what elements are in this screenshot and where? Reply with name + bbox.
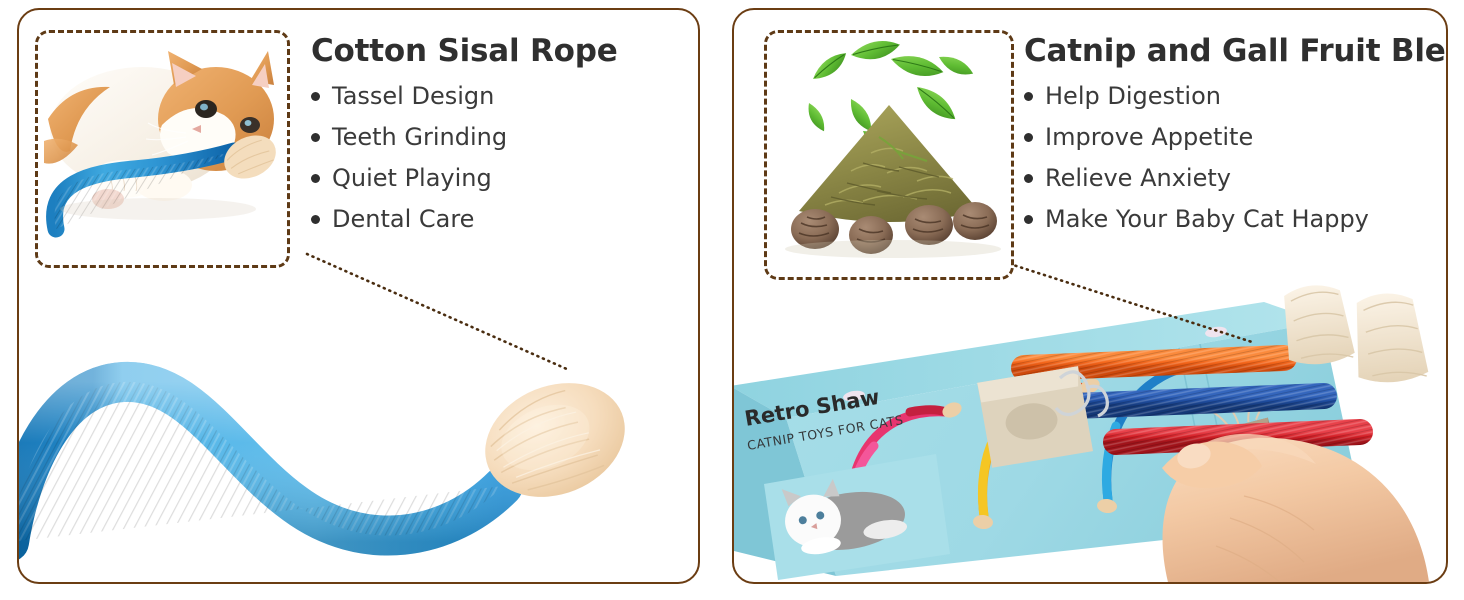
bullet-dot-icon — [1024, 215, 1033, 224]
feature-bullet-list: Tassel Design Teeth Grinding Quiet Playi… — [311, 84, 618, 231]
list-item-label: Teeth Grinding — [332, 125, 507, 149]
list-item-label: Dental Care — [332, 207, 474, 231]
list-item: Relieve Anxiety — [1024, 166, 1448, 190]
bullet-dot-icon — [1024, 133, 1033, 142]
bullet-dot-icon — [1024, 92, 1033, 101]
cat-playing-with-blue-rope-toy-photo — [35, 30, 290, 268]
list-item: Quiet Playing — [311, 166, 618, 190]
list-item: Tassel Design — [311, 84, 618, 108]
bullet-dot-icon — [311, 215, 320, 224]
list-item-label: Improve Appetite — [1045, 125, 1253, 149]
feature-text-block-left: Cotton Sisal Rope Tassel Design Teeth Gr… — [311, 34, 618, 248]
list-item-label: Relieve Anxiety — [1045, 166, 1231, 190]
list-item-label: Quiet Playing — [332, 166, 492, 190]
list-item: Teeth Grinding — [311, 125, 618, 149]
list-item-label: Tassel Design — [332, 84, 494, 108]
panel-cotton-sisal-rope: Cotton Sisal Rope Tassel Design Teeth Gr… — [17, 8, 700, 584]
feature-text-block-right: Catnip and Gall Fruit Blend Help Digesti… — [1024, 34, 1448, 248]
infographic-stage: Cotton Sisal Rope Tassel Design Teeth Gr… — [0, 0, 1464, 600]
feature-bullet-list: Help Digestion Improve Appetite Relieve … — [1024, 84, 1448, 231]
list-item: Dental Care — [311, 207, 618, 231]
blue-sisal-rope-toy-photo — [17, 290, 695, 584]
list-item: Improve Appetite — [1024, 125, 1448, 149]
bullet-dot-icon — [311, 92, 320, 101]
list-item: Make Your Baby Cat Happy — [1024, 207, 1448, 231]
list-item-label: Help Digestion — [1045, 84, 1221, 108]
feature-title: Cotton Sisal Rope — [311, 34, 618, 68]
list-item-label: Make Your Baby Cat Happy — [1045, 207, 1369, 231]
hand-holding-rope-toys-with-package-photo: Retro Shaw CATNIP TOYS FOR CATS — [732, 260, 1448, 584]
bullet-dot-icon — [1024, 174, 1033, 183]
feature-title: Catnip and Gall Fruit Blend — [1024, 34, 1448, 68]
bullet-dot-icon — [311, 174, 320, 183]
panel-catnip-and-gall-fruit-blend: Retro Shaw CATNIP TOYS FOR CATS — [732, 8, 1448, 584]
catnip-pile-with-mint-leaves-photo — [764, 30, 1014, 280]
bullet-dot-icon — [311, 133, 320, 142]
list-item: Help Digestion — [1024, 84, 1448, 108]
